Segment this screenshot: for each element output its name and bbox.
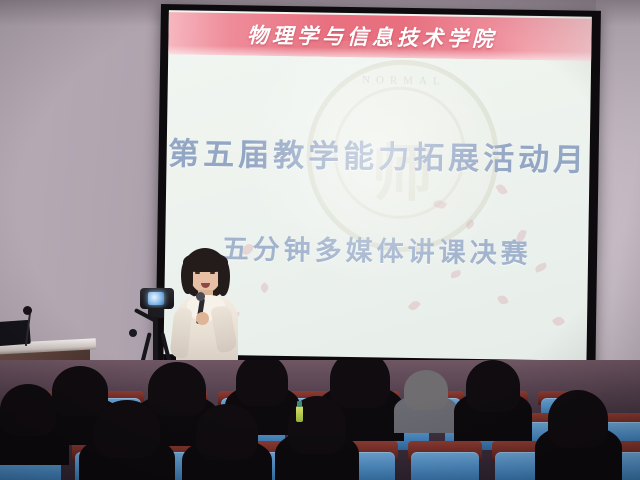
audience-member-head: [148, 362, 206, 416]
presenter-hair-side-right: [218, 260, 230, 296]
petal-decoration: [408, 299, 421, 313]
audience-member-head: [548, 390, 608, 448]
presenter-eye-right: [210, 272, 215, 274]
audience-member-head: [330, 360, 390, 408]
presenter-eye-left: [195, 272, 200, 274]
slide-header-banner: 物理学与信息技术学院: [168, 12, 592, 61]
presenter-hair-side-left: [181, 260, 193, 294]
camcorder-screen: [148, 292, 164, 305]
handheld-microphone-head: [196, 292, 205, 301]
water-bottle: [296, 406, 303, 422]
presenter-hand: [196, 312, 209, 325]
audience-member-head: [466, 360, 520, 412]
petal-decoration: [552, 315, 565, 328]
audience-member-head: [0, 384, 56, 436]
tripod-handle-knob: [129, 329, 137, 337]
petal-decoration: [259, 282, 270, 293]
seal-arc-text: NORMAL: [313, 73, 495, 88]
slide-title-line-1: 第五届教学能力拓展活动月: [166, 128, 590, 180]
audience-member-head: [236, 360, 288, 406]
audience-member-head: [196, 404, 258, 460]
podium-microphone-head: [23, 306, 32, 315]
audience-member-head: [404, 370, 448, 410]
audience-member-head: [94, 400, 160, 458]
petal-decoration: [450, 270, 461, 278]
wall-right-region: [596, 0, 640, 400]
auditorium-seat: [411, 452, 479, 480]
petal-decoration: [497, 294, 508, 305]
petal-decoration: [495, 183, 507, 197]
lecture-hall-photo: NORMAL 师 第五届教学能力拓展活动月 五分钟多媒体讲课决赛 物理学与信息技…: [0, 0, 640, 480]
water-bottle-cap: [297, 401, 302, 407]
audience-seating: [0, 360, 640, 480]
slide-banner-text: 物理学与信息技术学院: [247, 19, 497, 53]
audience-member-head: [52, 366, 108, 416]
